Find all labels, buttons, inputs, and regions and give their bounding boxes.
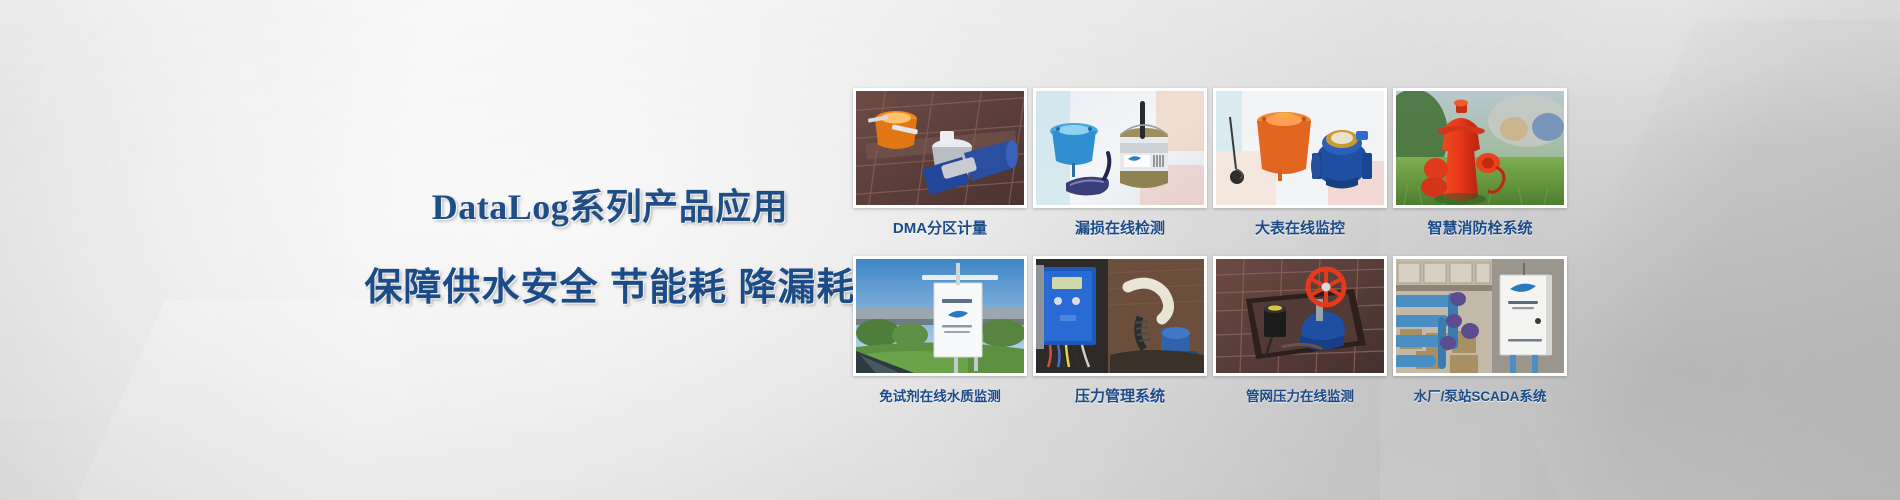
headline-block: DataLog系列产品应用 保障供水安全 节能耗 降漏耗: [330, 178, 890, 311]
product-caption-water-quality: 免试剂在线水质监测: [853, 385, 1027, 405]
product-caption-pressure-management: 压力管理系统: [1033, 385, 1207, 406]
product-row-2: 免试剂在线水质监测: [853, 256, 1573, 420]
product-row-1: DMA分区计量: [853, 88, 1573, 252]
product-image-pressure-management[interactable]: [1033, 256, 1207, 376]
product-card-water-quality[interactable]: 免试剂在线水质监测: [853, 256, 1027, 420]
product-image-dma-metering[interactable]: [853, 88, 1027, 208]
product-grid: DMA分区计量: [853, 88, 1573, 424]
product-card-smart-hydrant[interactable]: 智慧消防栓系统: [1393, 88, 1567, 252]
product-card-leak-detection[interactable]: 漏损在线检测: [1033, 88, 1207, 252]
product-image-smart-hydrant[interactable]: [1393, 88, 1567, 208]
product-image-scada[interactable]: [1393, 256, 1567, 376]
product-card-pressure-management[interactable]: 压力管理系统: [1033, 256, 1207, 420]
product-image-leak-detection[interactable]: [1033, 88, 1207, 208]
product-image-network-pressure[interactable]: [1213, 256, 1387, 376]
product-caption-large-meter-monitoring: 大表在线监控: [1213, 217, 1387, 238]
product-caption-scada: 水厂/泵站SCADA系统: [1393, 385, 1567, 405]
promo-banner: DataLog系列产品应用 保障供水安全 节能耗 降漏耗: [0, 0, 1900, 500]
product-card-large-meter-monitoring[interactable]: 大表在线监控: [1213, 88, 1387, 252]
product-card-scada[interactable]: 水厂/泵站SCADA系统: [1393, 256, 1567, 420]
product-caption-leak-detection: 漏损在线检测: [1033, 217, 1207, 238]
product-card-network-pressure[interactable]: 管网压力在线监测: [1213, 256, 1387, 420]
headline-secondary: 保障供水安全 节能耗 降漏耗: [330, 256, 890, 311]
product-image-water-quality[interactable]: [853, 256, 1027, 376]
product-caption-network-pressure: 管网压力在线监测: [1213, 385, 1387, 405]
product-caption-smart-hydrant: 智慧消防栓系统: [1393, 217, 1567, 238]
headline-primary: DataLog系列产品应用: [330, 178, 890, 230]
product-caption-dma-metering: DMA分区计量: [853, 217, 1027, 238]
product-card-dma-metering[interactable]: DMA分区计量: [853, 88, 1027, 252]
product-image-large-meter-monitoring[interactable]: [1213, 88, 1387, 208]
